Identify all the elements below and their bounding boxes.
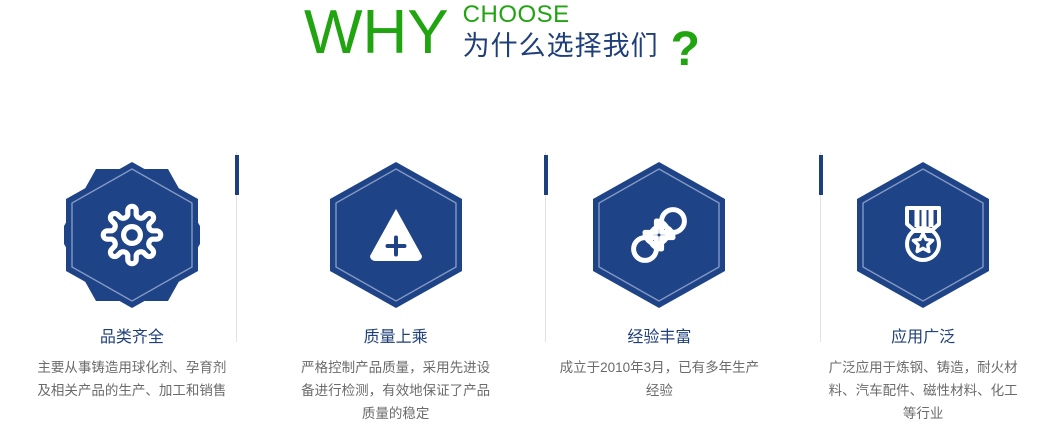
heading-text-stack: CHOOSE 为什么选择我们 bbox=[463, 2, 659, 62]
hexagon-badge bbox=[64, 160, 200, 310]
card-description: 严格控制产品质量，采用先进设备进行检测，有效地保证了产品质量的稳定 bbox=[296, 356, 496, 425]
card-title: 品类齐全 bbox=[100, 328, 164, 348]
section-heading: WHY CHOOSE 为什么选择我们 ? bbox=[0, 0, 1055, 96]
hexagon-badge bbox=[855, 160, 991, 310]
column-divider bbox=[545, 152, 546, 342]
hexagon-badge bbox=[591, 160, 727, 310]
why-choose-us-section: WHY CHOOSE 为什么选择我们 ? bbox=[0, 0, 1055, 416]
card-title: 应用广泛 bbox=[891, 328, 955, 348]
heading-inner: WHY CHOOSE 为什么选择我们 ? bbox=[304, 0, 700, 74]
heading-choose-word: CHOOSE bbox=[463, 2, 659, 28]
hexagon-badge bbox=[328, 160, 464, 310]
feature-cards-row: 品类齐全 主要从事铸造用球化剂、孕育剂及相关产品的生产、加工和销售 bbox=[0, 152, 1055, 416]
heading-chinese-subtitle: 为什么选择我们 bbox=[463, 30, 659, 62]
card-title: 经验丰富 bbox=[627, 328, 691, 348]
feature-card-application[interactable]: 应用广泛 广泛应用于炼钢、铸造，耐火材料、汽车配件、磁性材料、化工等行业 bbox=[791, 152, 1055, 416]
column-divider bbox=[236, 152, 237, 342]
feature-card-experience[interactable]: 经验丰富 成立于2010年3月，已有多年生产经验 bbox=[528, 152, 792, 416]
column-divider bbox=[820, 152, 821, 342]
feature-card-category[interactable]: 品类齐全 主要从事铸造用球化剂、孕育剂及相关产品的生产、加工和销售 bbox=[0, 152, 264, 416]
card-description: 广泛应用于炼钢、铸造，耐火材料、汽车配件、磁性材料、化工等行业 bbox=[823, 356, 1023, 425]
card-title: 质量上乘 bbox=[364, 328, 428, 348]
card-description: 主要从事铸造用球化剂、孕育剂及相关产品的生产、加工和销售 bbox=[32, 356, 232, 402]
heading-why-word: WHY bbox=[304, 2, 449, 64]
feature-card-quality[interactable]: 质量上乘 严格控制产品质量，采用先进设备进行检测，有效地保证了产品质量的稳定 bbox=[264, 152, 528, 416]
heading-question-mark: ? bbox=[671, 26, 700, 74]
card-description: 成立于2010年3月，已有多年生产经验 bbox=[559, 356, 759, 402]
